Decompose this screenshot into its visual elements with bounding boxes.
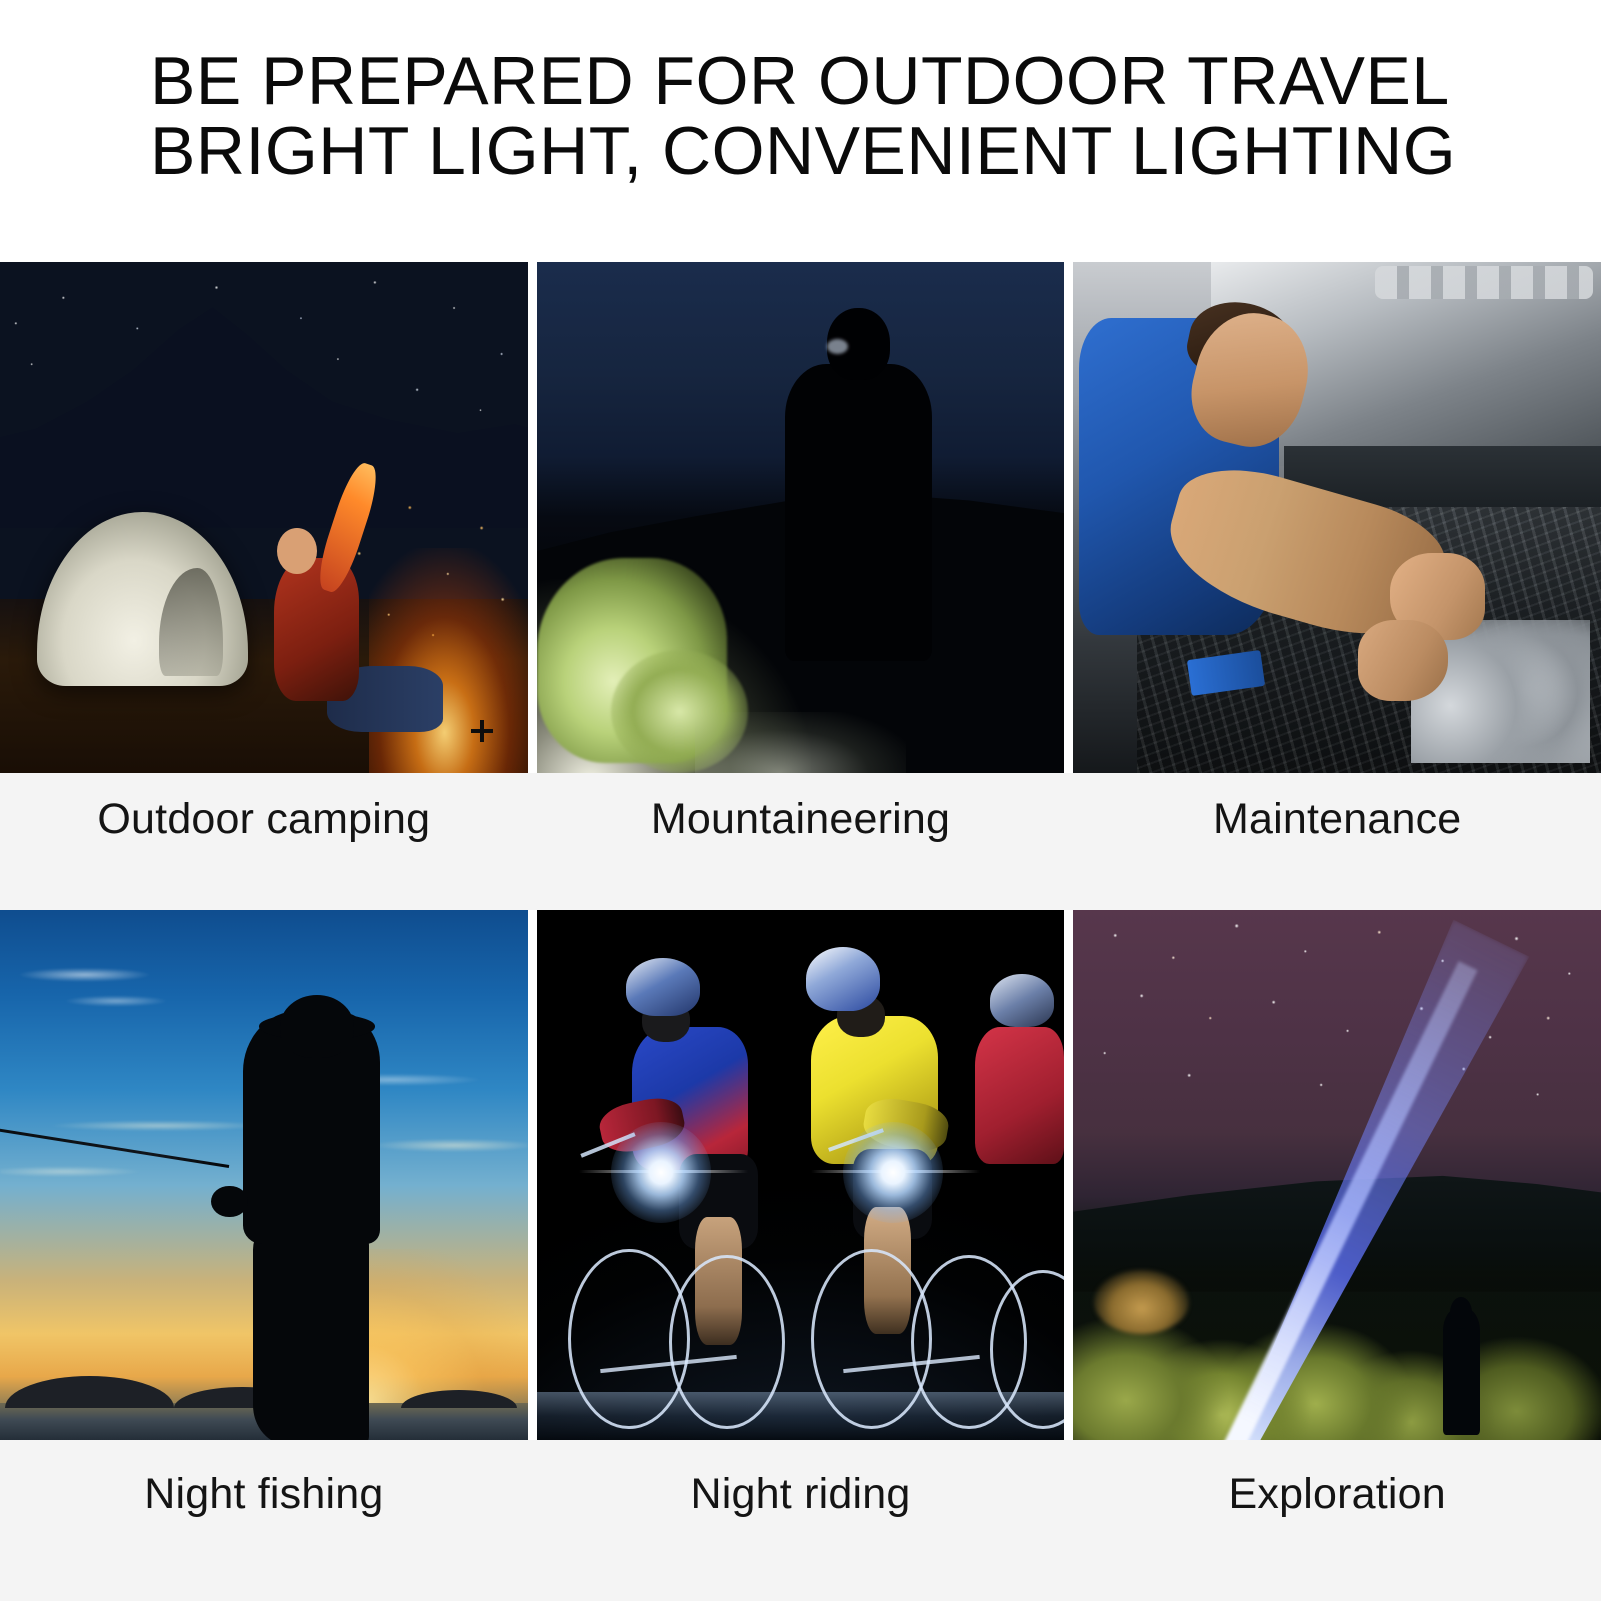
camper-head bbox=[277, 528, 317, 574]
headline-line-1: BE PREPARED FOR OUTDOOR TRAVEL bbox=[150, 46, 1601, 116]
cyclist-3-helmet bbox=[990, 974, 1053, 1027]
island-silhouette-1 bbox=[5, 1376, 174, 1408]
scenario-grid: Outdoor camping Mountaineering Maintenan… bbox=[0, 240, 1601, 1601]
bike-headlight-2-icon bbox=[843, 1122, 943, 1223]
scenario-row-2: Night fishing Night riding Exploration bbox=[0, 910, 1601, 1601]
scenario-photo-night-riding[interactable] bbox=[537, 910, 1065, 1440]
scenario-row-1: Outdoor camping Mountaineering Maintenan… bbox=[0, 240, 1601, 910]
product-feature-banner: BE PREPARED FOR OUTDOOR TRAVEL BRIGHT LI… bbox=[0, 0, 1601, 1601]
camper-body bbox=[274, 558, 358, 701]
mechanic-hand-left bbox=[1358, 620, 1448, 702]
scenario-photo-outdoor-camping[interactable] bbox=[0, 262, 528, 773]
lit-path bbox=[695, 712, 906, 773]
scenario-row-1-photos bbox=[0, 240, 1601, 773]
hiker-torso bbox=[785, 364, 933, 660]
scenario-row-2-photos bbox=[0, 910, 1601, 1440]
bike-1-wheel-rear bbox=[669, 1255, 785, 1430]
cyclist-2-helmet bbox=[806, 947, 880, 1011]
tent-door bbox=[159, 568, 222, 676]
caption-mountaineering: Mountaineering bbox=[537, 773, 1065, 910]
headlamp-icon bbox=[827, 339, 848, 354]
lit-rock bbox=[1094, 1270, 1189, 1334]
scenario-row-2-captions: Night fishing Night riding Exploration bbox=[0, 1440, 1601, 1601]
scenario-photo-mountaineering[interactable] bbox=[537, 262, 1065, 773]
plus-marker-icon bbox=[471, 720, 493, 742]
scenario-row-1-captions: Outdoor camping Mountaineering Maintenan… bbox=[0, 773, 1601, 910]
caption-exploration: Exploration bbox=[1073, 1440, 1601, 1601]
caption-night-fishing: Night fishing bbox=[0, 1440, 528, 1601]
banner-header: BE PREPARED FOR OUTDOOR TRAVEL BRIGHT LI… bbox=[0, 0, 1601, 240]
angler-head bbox=[280, 995, 354, 1059]
cyclist-1-helmet bbox=[626, 958, 700, 1016]
fishing-reel bbox=[211, 1186, 248, 1218]
cyclist-3-jersey bbox=[975, 1027, 1065, 1165]
scenario-photo-exploration[interactable] bbox=[1073, 910, 1601, 1440]
hood-ribs bbox=[1375, 266, 1594, 299]
page-title: BE PREPARED FOR OUTDOOR TRAVEL BRIGHT LI… bbox=[150, 46, 1601, 186]
caption-outdoor-camping: Outdoor camping bbox=[0, 773, 528, 910]
caption-maintenance: Maintenance bbox=[1073, 773, 1601, 910]
scenario-photo-night-fishing[interactable] bbox=[0, 910, 528, 1440]
caption-night-riding: Night riding bbox=[537, 1440, 1065, 1601]
headline-line-2: BRIGHT LIGHT, CONVENIENT LIGHTING bbox=[150, 116, 1601, 186]
explorer-head bbox=[1450, 1297, 1472, 1329]
scenario-photo-maintenance[interactable] bbox=[1073, 262, 1601, 773]
angler-legs bbox=[253, 1223, 369, 1440]
bike-headlight-1-icon bbox=[611, 1122, 711, 1223]
